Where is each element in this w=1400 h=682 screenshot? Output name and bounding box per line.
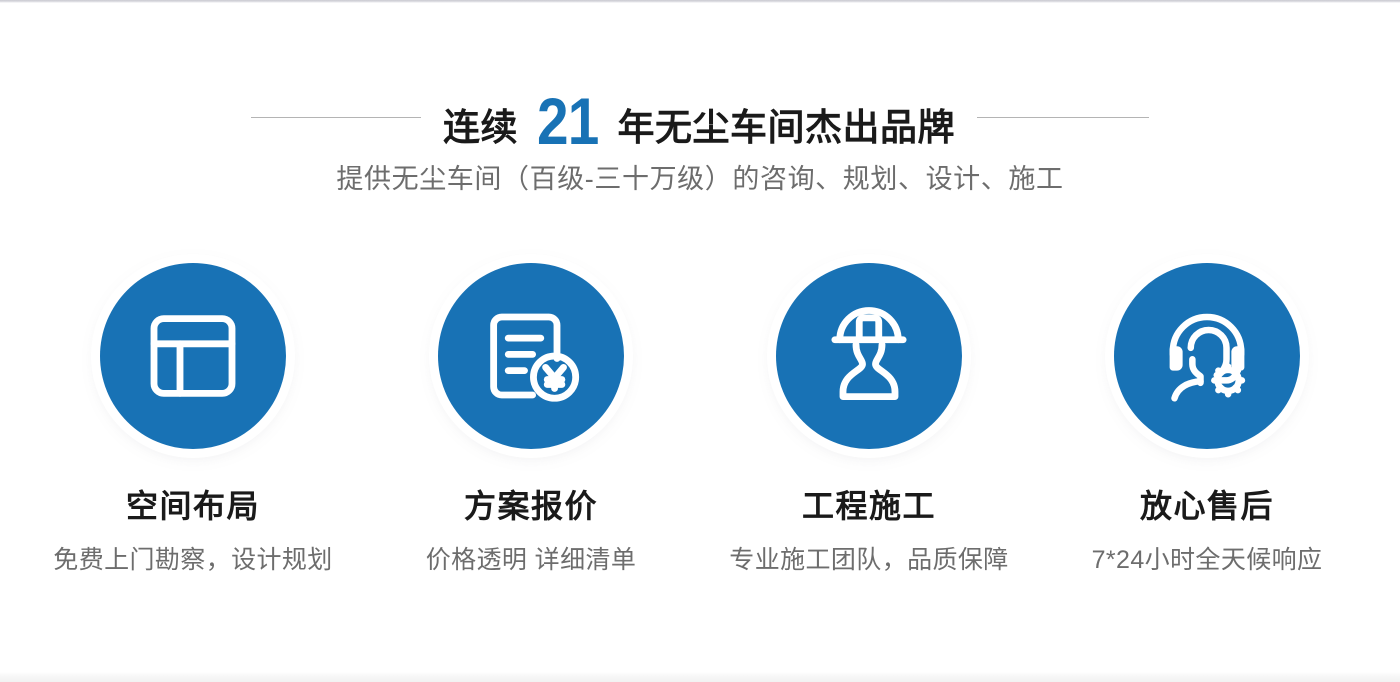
feature-description: 专业施工团队，品质保障: [729, 546, 1008, 575]
construction-worker-icon: [817, 304, 921, 408]
top-divider: [0, 0, 1400, 3]
bottom-divider: [0, 672, 1400, 682]
subtitle: 提供无尘车间（百级-三十万级）的咨询、规划、设计、施工: [0, 163, 1400, 195]
feature-item-construction[interactable]: 工程施工 专业施工团队，品质保障: [704, 263, 1034, 575]
feature-item-after-sales[interactable]: 放心售后 7*24小时全天候响应: [1042, 263, 1372, 575]
headline-row: 连续 21 年无尘车间杰出品牌: [0, 86, 1400, 148]
feature-description: 免费上门勘察，设计规划: [53, 546, 332, 575]
headline: 连续 21 年无尘车间杰出品牌: [443, 84, 955, 150]
headline-prefix: 连续: [443, 109, 518, 146]
feature-item-space-layout[interactable]: 空间布局 免费上门勘察，设计规划: [28, 263, 358, 575]
feature-icon-badge: [100, 263, 286, 449]
headline-year-number: 21: [525, 88, 611, 154]
feature-title: 工程施工: [802, 489, 936, 524]
headline-rule-left: [251, 117, 421, 118]
feature-description: 价格透明 详细清单: [426, 546, 637, 575]
feature-title: 方案报价: [464, 489, 598, 524]
feature-description: 7*24小时全天候响应: [1092, 546, 1323, 575]
feature-icon-badge: [1114, 263, 1300, 449]
document-yuan-quote-icon: [479, 304, 583, 408]
promo-banner: 连续 21 年无尘车间杰出品牌 提供无尘车间（百级-三十万级）的咨询、规划、设计…: [0, 0, 1400, 682]
feature-icon-badge: [438, 263, 624, 449]
feature-title: 空间布局: [126, 489, 260, 524]
layout-grid-icon: [141, 304, 245, 408]
feature-title: 放心售后: [1140, 489, 1274, 524]
headline-rule-right: [977, 117, 1149, 118]
feature-list: 空间布局 免费上门勘察，设计规划 方案报价 价格透明 详细清单: [0, 263, 1400, 575]
feature-item-quotation[interactable]: 方案报价 价格透明 详细清单: [366, 263, 696, 575]
headline-suffix: 年无尘车间杰出品牌: [617, 109, 955, 146]
feature-icon-badge: [776, 263, 962, 449]
headset-support-gear-icon: [1155, 304, 1259, 408]
